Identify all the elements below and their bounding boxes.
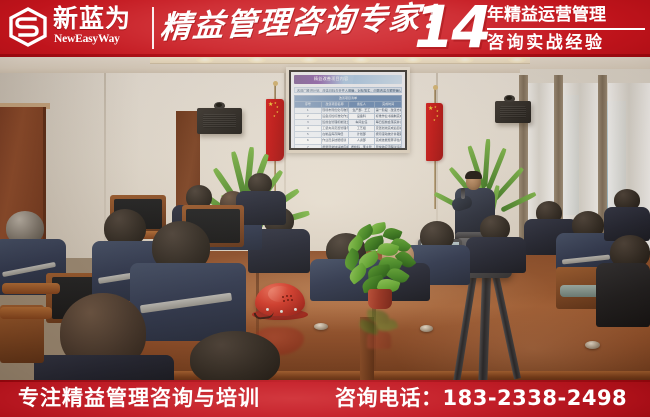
table-cable-grommet	[585, 341, 600, 349]
experience-line-1: 年精益运营管理	[487, 3, 647, 27]
chair-armrest	[0, 307, 52, 319]
slide-subtitle: 各部门推进计划、改善目标与责任人明确，对标落实，问题改善与跟踪确认按计划执行推进	[294, 87, 402, 93]
bottom-red-banner: 专注精益管理咨询与培训 咨询电话：183-2338-2498	[0, 380, 650, 417]
logo-brand-en: NewEasyWay	[54, 33, 120, 45]
slide-table-cell: 第一阶段 · 改善方案评审通过后执行跟进	[375, 108, 402, 114]
slide-title-bar: 精益改善项目内容	[294, 75, 402, 84]
plant-table-pothos	[340, 223, 418, 309]
ceiling-downlight	[508, 56, 526, 63]
ceiling-downlight	[352, 56, 370, 63]
ceiling-downlight	[456, 56, 474, 63]
logo-divider	[152, 7, 154, 49]
microphone-icon	[461, 188, 465, 199]
ceiling-downlight	[404, 56, 422, 63]
slide-table-cell: 现场布局优化与物流路径改善方案制定	[321, 108, 348, 114]
experience-text-block: 年精益运营管理 咨询实战经验	[487, 3, 647, 55]
presenter-hair	[465, 171, 482, 179]
ceiling-downlight	[300, 56, 318, 63]
experience-years-number: 14	[414, 0, 489, 57]
slide-table-cell: 异常响应流程试运行后修订定稿	[375, 144, 402, 150]
ceiling-downlight	[196, 56, 214, 63]
footer-tagline: 专注精益管理咨询与培训	[18, 386, 260, 411]
slide-table-cell: 质检科 · 李主管	[348, 144, 375, 150]
wall-speaker-left	[197, 108, 242, 134]
chinese-flag-right: ★ ★ ★ ★ ★	[426, 103, 443, 161]
slide-table-cell: 每日班前会落实并记录检查	[375, 120, 402, 126]
ceiling-camera-icon	[504, 95, 515, 102]
company-logo: 新蓝为 NewEasyWay	[8, 6, 153, 48]
slide-table-cell: 质量异常快速响应机制	[321, 144, 348, 150]
slide-table-cell: 按月滚动统计并跟踪改善效果	[375, 132, 402, 138]
training-room-photo: 精益改善项目内容 各部门推进计划、改善目标与责任人明确，对标落实，问题改善与跟踪…	[0, 55, 650, 382]
safety-helmet	[252, 283, 308, 323]
promotional-banner-image: 新蓝为 NewEasyWay 精益管理咨询专家！ 14 年精益运营管理 咨询实战…	[0, 0, 650, 417]
logo-brand-cn: 新蓝为	[53, 5, 131, 33]
slide-table-cell: 定置划线完成后目视化标识到位	[375, 126, 402, 132]
footer-phone: 咨询电话：183-2338-2498	[335, 386, 627, 411]
slide-title: 精益改善项目内容	[314, 76, 348, 82]
table-edge-band	[360, 317, 374, 382]
slide-table-cell: 设备点检标准化作业指导书编制	[321, 114, 348, 120]
slogan-calligraphy: 精益管理咨询专家！	[158, 0, 413, 54]
neweasyway-logo-icon	[8, 7, 48, 47]
slide-table-cell: 完成技能矩阵评估与培训排期	[375, 138, 402, 144]
table-cable-grommet	[314, 323, 328, 330]
slide-table-cell: 工装夹具定置管理与目视化	[321, 126, 348, 132]
flower-pot	[368, 289, 392, 309]
ceiling-downlight	[248, 56, 266, 63]
experience-line-2: 咨询实战经验	[487, 31, 647, 55]
top-red-banner: 新蓝为 NewEasyWay 精益管理咨询专家！ 14 年精益运营管理 咨询实战…	[0, 0, 650, 57]
chair-armrest	[2, 283, 60, 294]
slide-table-cell: 班前会管理机制建立	[321, 120, 348, 126]
projection-screen: 精益改善项目内容 各部门推进计划、改善目标与责任人明确，对标落实，问题改善与跟踪…	[286, 67, 410, 153]
slide-table-cell: 标准作业书编制完成后发布实施	[375, 114, 402, 120]
experience-divider-rule	[487, 28, 645, 30]
table-cable-grommet	[420, 325, 433, 332]
presentation-slide: 精益改善项目内容 各部门推进计划、改善目标与责任人明确，对标落实，问题改善与跟踪…	[291, 72, 405, 148]
ceiling-camera-icon	[214, 102, 225, 109]
slide-table: 改善项目清单 序号改善项目名称责任人完成时间1现场布局优化与物流路径改善方案制定…	[294, 95, 402, 150]
slide-table-cell: 作业员多技能培训	[321, 138, 348, 144]
slide-table-row: 7质量异常快速响应机制质检科 · 李主管异常响应流程试运行后修订定稿	[295, 144, 402, 150]
wall-speaker-right	[495, 101, 531, 123]
